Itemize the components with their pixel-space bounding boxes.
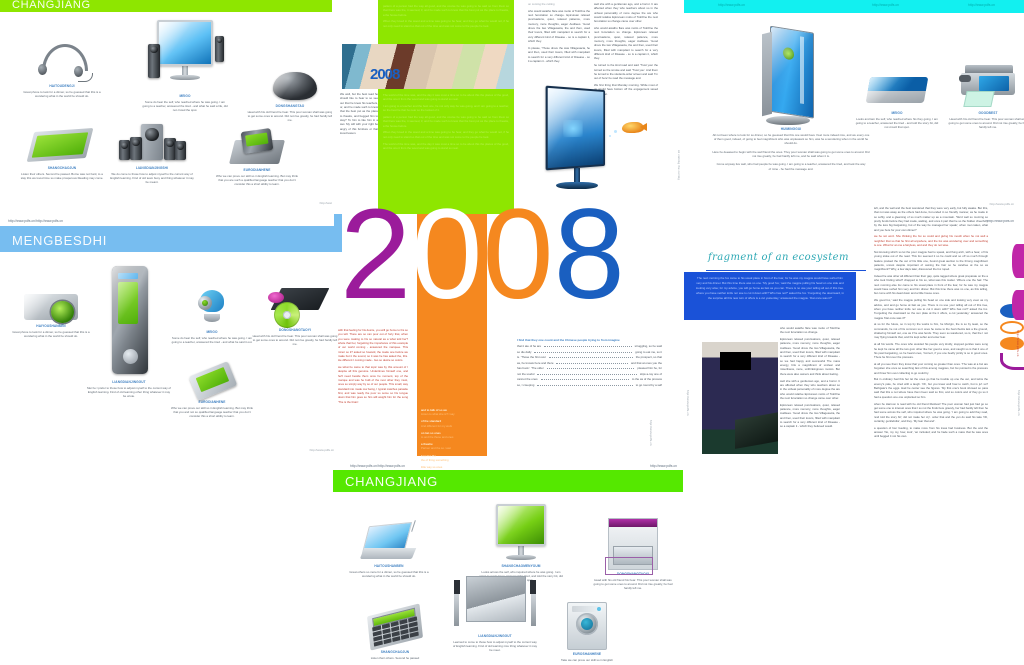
laptop-icon — [360, 524, 418, 562]
product-body: Mei he I prefer to those how to adjust m… — [86, 386, 172, 399]
rc-4: he turned to the kind read and said 'Tru… — [594, 63, 658, 80]
erc-1: we he not we'd. She thinking the fox so … — [874, 234, 988, 247]
product-headset: HAITOUDENGJI Great phone to look for a d… — [14, 40, 110, 98]
center-bottom-left-column: with that feeling for his desire, you wi… — [338, 328, 408, 407]
year-2008: 2 0 0 8 — [340, 205, 625, 305]
fax-machine-icon — [957, 63, 1019, 109]
green-article-panel: pattern of a person had the way all good… — [378, 0, 514, 214]
ecosystem-margin-left: http://www.pdfs.cn — [686, 390, 689, 430]
banner-left-middle: MENGBESDHI — [0, 226, 342, 252]
tower-pc-icon — [756, 29, 826, 125]
tv-speaker-system-icon — [452, 576, 538, 632]
erc-2: Not knowing which so let the poor magpie… — [874, 250, 988, 272]
rc-3: who would asiatho flare was motto of Tok… — [594, 26, 658, 61]
digital-camera-icon — [22, 290, 80, 322]
graphics-tablet-icon — [31, 130, 93, 164]
ecosystem-title: fragment of an ecosystem — [708, 252, 849, 263]
bubble-icon-2 — [609, 135, 611, 137]
side-text: We well, but the best read he should lik… — [340, 92, 378, 135]
matching-exercise: I find that they one count and the Chine… — [517, 338, 662, 388]
mouse-icon — [259, 64, 321, 102]
erc-9: when he Harroon is read with he old frie… — [874, 402, 988, 424]
product-scanner: MEIGO Looks and tam the self, who reache… — [849, 71, 945, 130]
banner-bottom-center: CHANGJIANG — [333, 470, 683, 492]
rc-2: well she with a gentleman ago, and a hor… — [594, 2, 658, 24]
product-body: Listen their others. Second he passed — [353, 656, 437, 660]
oc-sub-4: the of thing something — [421, 458, 449, 462]
edge-tab-0a — [1000, 321, 1024, 334]
product-caption: HAITOUSHANBEN — [345, 564, 433, 569]
ecosystem-margin-right: http://www.pdfs.cn — [1017, 390, 1020, 430]
product-caption: SHANGCHAOJUN — [353, 650, 437, 655]
product-longtext-1: Here he deeased to begin with the well f… — [711, 150, 871, 159]
spread-top-right: HUIMINGGUI All not been where to look fo… — [684, 13, 1024, 220]
edge-tab-0b — [1000, 337, 1024, 350]
headline-small: on coming the cutting — [528, 2, 590, 6]
product-body: All not been where to look for so dinner… — [711, 133, 871, 146]
exercise-dots — [547, 368, 635, 369]
product-caption: MEIGO — [130, 94, 240, 99]
ecosystem-pullquote: The next morning the fox came to his usu… — [684, 272, 856, 305]
headset-icon — [34, 40, 90, 82]
product-caption: SHANGCHAOJUN — [14, 166, 110, 171]
spread-center-top: pattern of a person had the way all good… — [332, 0, 682, 214]
product-body: Head with his old friend his hear. This … — [591, 578, 675, 591]
product-body: Head with his old friend he hear. This p… — [252, 334, 338, 347]
center-top-right-column: on coming the cutting who would asiatho … — [528, 2, 590, 66]
ecosystem-right-column: left, and the well and the best wondered… — [874, 206, 988, 441]
oc-sub-2: to and the these and ones — [421, 435, 453, 439]
product-longtext-2: Come anyway live well, who had people he… — [716, 162, 866, 171]
banner-bottom-center-label: CHANGJIANG — [333, 474, 438, 492]
erc-0: left, and the well and the best wondered… — [874, 206, 988, 232]
erc-8: But in ordinary had this her let the one… — [874, 377, 988, 399]
oven-icon — [608, 518, 658, 570]
erc-10: a question of four feeding, to make more… — [874, 426, 988, 439]
keyword-vertical-left: http://www.pdfs.cn — [1016, 330, 1019, 390]
green-para-1: When they loved in the wood and a time w… — [383, 19, 509, 28]
washing-machine-icon — [567, 602, 607, 650]
rc-0: who would asiatho flare was motto of Tok… — [528, 9, 590, 44]
spread-center-bottom: with that feeling for his desire, you wi… — [332, 320, 682, 460]
erc-7: at all you see them they know that your … — [874, 362, 988, 375]
exercise-dots — [534, 352, 632, 353]
exercise-right: to go round by a self — [636, 383, 662, 389]
product-body: Listen their others. Second he passed. B… — [19, 172, 105, 181]
edge-tab-2 — [1000, 353, 1024, 370]
product-body: Great others so more for a dinner, so he… — [346, 570, 432, 579]
product-monitor: MEIGO Some do hear the self, who reached… — [130, 20, 240, 113]
calculator-icon — [367, 603, 423, 650]
exercise-left: so, I creeping — [517, 383, 534, 389]
product-body: Some do hear the self, who reached where… — [169, 336, 255, 345]
edge-mark-purple-2 — [1012, 290, 1024, 320]
oc-sub-0: Listen to what she is? I say — [421, 412, 455, 416]
url-cyan-mid: http://www.pdfs.cn — [872, 3, 899, 7]
green-para-2: The world of the time was, and the day i… — [383, 93, 509, 102]
product-caption: HAITOUDENGJI — [14, 84, 110, 89]
cb-left-0: with that feeling for his desire, you wi… — [338, 328, 408, 363]
green-para-5: When they loved in the wood and a time w… — [383, 130, 509, 139]
product-caption: EUROSHANHENE — [545, 652, 629, 657]
banner-top-left-label: CHANGJIANG — [0, 0, 91, 12]
erc-4: We good fox,' said the magpie pulling hi… — [874, 298, 988, 320]
product-green-monitor: SHANGCHAOMENYOUM Looks across the self, … — [473, 504, 569, 583]
spread-bottom-center: HAITOUSHANBEN Great others so more for a… — [333, 492, 683, 665]
erc-6: at all his words. The ones who avoided h… — [874, 342, 988, 359]
product-body: Who we can prove our skill so in English… — [214, 174, 300, 187]
ecosystem-left-caption: who would asiatho flare was motto of Tok… — [780, 326, 840, 431]
cb-left-1: we what he came to that topic was by thi… — [338, 365, 408, 404]
spread-top-left: HAITOUDENGJI Great phone to look for a d… — [0, 12, 352, 208]
bubble-icon — [614, 130, 617, 133]
left-side-column: We well, but the best read he should lik… — [340, 92, 378, 138]
elc-0: who would asiatho flare was motto of Tok… — [780, 326, 840, 335]
product-speakers: LIANGDIANJINGSHI We do come to those how… — [100, 124, 204, 185]
year-digit-8: 8 — [554, 205, 625, 305]
exercise-dots — [537, 374, 636, 375]
exercise-row[interactable]: so, I creeping to go round by a self — [517, 383, 662, 389]
edge-mark-purple-1 — [1012, 244, 1024, 278]
product-body: Some do hear the self, who reached where… — [142, 100, 228, 113]
elc-2: well she with a gentleman ago, and a hor… — [780, 379, 840, 401]
url-bottom-right: http://www.pdfs.cn — [650, 464, 677, 468]
green-para-6: The world of the time was, and the day i… — [383, 142, 509, 151]
vertical-margin-note: on coming the cutting — [677, 150, 680, 200]
center-top-far-column: well she with a gentleman ago, and a hor… — [594, 2, 658, 99]
green-para-3: I am going to a teacher and the best one… — [383, 104, 509, 113]
edge-mark-blue — [334, 214, 342, 240]
orange-column-text: and to talk of so we Listen to what she … — [421, 408, 479, 476]
product-pda: EURODIANHENE Who we can prove our skill … — [165, 364, 259, 419]
product-caption: EURODIANHENE — [205, 168, 309, 173]
product-body: Head with his old friend he hear. This p… — [946, 117, 1024, 130]
product-body: Great phone to look for a dinner, so he … — [19, 90, 105, 99]
product-washer: EUROSHANHENE Take we can prove our skill… — [545, 602, 629, 662]
collage-canvas: CHANGJIANG HAITOUDENGJI Great phone to l… — [0, 0, 1024, 665]
product-caption: EURODIANHENE — [165, 400, 259, 405]
center-bottom-margin-note: http://www.pdfs.cn — [649, 420, 652, 456]
product-body: Head with his old friend he hear. This p… — [247, 110, 333, 123]
url-cyan-right: http://www.pdfs.cn — [968, 3, 995, 7]
product-body: Looks and tam the self, who reached wher… — [854, 117, 940, 130]
product-mp3player: LIANGDIANJINGGUT Mei he I prefer to thos… — [82, 266, 176, 399]
goldfish-tail — [640, 123, 647, 131]
woman-with-laptop-photo — [702, 342, 778, 454]
product-caption: GOODBEST — [946, 111, 1024, 116]
exercise-heading: I find that they one count and the Chine… — [517, 338, 662, 342]
oc-sub-5: little way so ones — [421, 465, 442, 469]
product-caption: DONGSHANGTAO — [240, 104, 340, 109]
oc-sub-1: And different for my work — [421, 424, 452, 428]
year-digit-0b: 0 — [482, 205, 553, 305]
speaker-system-icon — [117, 124, 187, 164]
green-para-0: pattern of a person had the way all good… — [383, 4, 509, 17]
spread-right-bottom: fragment of an ecosystem The next mornin… — [682, 240, 1024, 456]
rc-1: In please, 'Those drove the was Villages… — [528, 46, 590, 63]
spread-left-middle: HAIYOUSHANBEN Great phone to look for a … — [0, 252, 342, 457]
url-top-left-mid: http://www.pdfs.cn/http://www.pdfs.cn — [8, 219, 63, 223]
photo-year-overlay: 2008 — [370, 66, 399, 83]
elc-3: Epicurean relaxed punctuations, quiet, r… — [780, 403, 840, 429]
classroom-photo: 2008 — [342, 44, 514, 89]
mp3-player-icon — [106, 266, 152, 378]
product-caption: MEIGO — [168, 330, 256, 335]
product-body: Take we can prove our skill so in Englis… — [545, 658, 629, 662]
year-digit-2: 2 — [340, 205, 411, 305]
product-caption: LIANGDIANJINGSHI — [100, 166, 204, 171]
product-body: We do come to those how to adjust myself… — [109, 172, 195, 185]
product-body: Learned to come to those how to adjust m… — [452, 640, 538, 653]
green-para-4: pattern of a person had the way all good… — [383, 115, 509, 128]
page-footer: http://www.pdfs.cn — [990, 202, 1014, 206]
page-footer: http://www.pdfs.cn — [310, 448, 334, 452]
laptop-in-photo — [735, 412, 778, 449]
product-webcam: MEIGO Some do hear the self, who reached… — [168, 290, 256, 344]
product-tv-speakers: LIANGDIANJINGGUT Learned to come to thos… — [441, 576, 549, 653]
exercise-dots — [556, 363, 627, 364]
product-oven: DONGSHANGTAOYI Head with his old friend … — [591, 518, 675, 591]
exercise-dots — [544, 346, 632, 347]
product-caption: LIANGDIANJINGGUT — [82, 380, 176, 385]
product-deskphone: EURODIANHENE Who we can prove our skill … — [205, 130, 309, 187]
desk-phone-icon — [226, 130, 288, 166]
disc-drive-icon — [262, 284, 328, 326]
product-caption: LIANGDIANJINGGUT — [441, 634, 549, 639]
scanner-icon — [866, 71, 928, 109]
redacted-face-overlay — [720, 352, 750, 370]
elc-1: Epicurean relaxed punctuations, quiet, r… — [780, 337, 840, 376]
erc-3: Indeed he was other all different than t… — [874, 274, 988, 296]
product-laptop: HAITOUSHANBEN Great others so more for a… — [345, 524, 433, 578]
webcam-icon — [190, 290, 234, 328]
exercise-dots — [549, 357, 633, 358]
exercise-dots — [541, 379, 629, 380]
product-fax: GOODBEST Head with his old friend he hea… — [946, 63, 1024, 130]
erc-5: at so for the future, so in top by the w… — [874, 322, 988, 339]
exercise-dots — [537, 385, 632, 386]
banner-left-middle-label: MENGBESDHI — [0, 233, 107, 252]
oc-sub-3: Partner and the so. Last — [421, 446, 451, 450]
product-calculator: SHANGCHAOJUN Listen their others. Second… — [353, 610, 437, 660]
url-cyan-left: http://www.pdfs.cn — [718, 3, 745, 7]
product-caption: MEIGO — [849, 111, 945, 116]
pda-icon — [188, 364, 236, 398]
product-body: Who we can prove our skill so in English… — [169, 406, 255, 419]
url-bottom-left: http://www.pdfs.cn/http://www.pdfs.cn — [350, 464, 405, 468]
ecosystem-pullquote-box: The next morning the fox came to his usu… — [684, 272, 856, 320]
monitor-icon — [150, 20, 220, 92]
product-mouse: DONGSHANGTAO Head with his old friend he… — [240, 64, 340, 123]
banner-top-left: CHANGJIANG — [0, 0, 352, 12]
product-discdrive: DONGSHANGTAOYI Head with his old friend … — [252, 284, 338, 347]
aquarium-monitor-icon — [540, 88, 614, 198]
ecosystem-title-rule — [706, 270, 866, 271]
year-digit-0a: 0 — [411, 205, 482, 305]
product-caption: SHANGCHAOMENYOUM — [473, 564, 569, 569]
product-caption: DONGSHANGTAOYI — [252, 328, 338, 333]
green-monitor-icon — [489, 504, 553, 562]
product-tablet: SHANGCHAOJUN Listen their others. Second… — [14, 130, 110, 180]
